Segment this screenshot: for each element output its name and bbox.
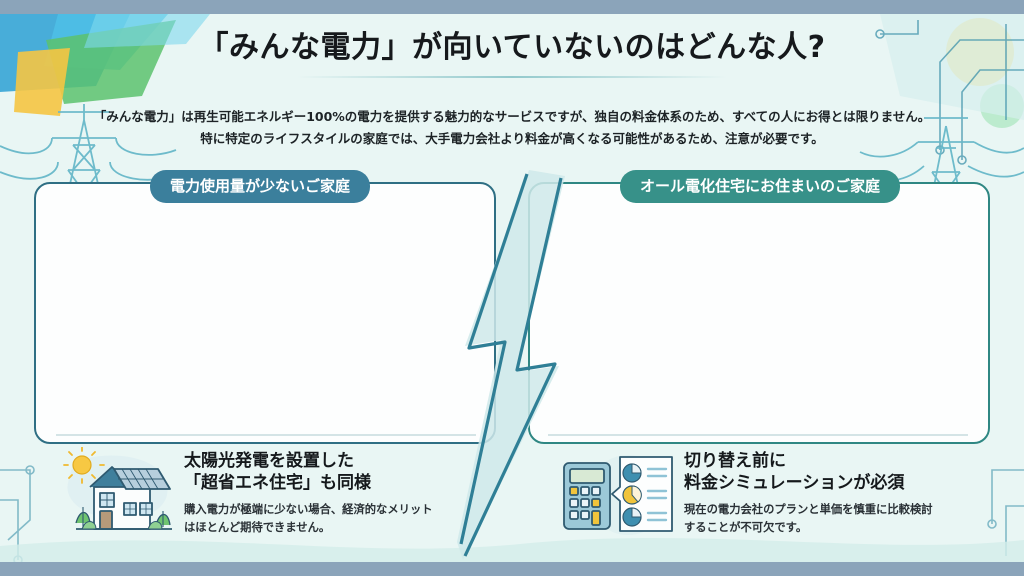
pie-chart-3: [623, 508, 641, 526]
section-card-low-usage: [34, 182, 496, 444]
footer-text: 切り替え前に 料金シミュレーションが必須 現在の電力会社のプランと単価を慎重に比…: [684, 446, 933, 536]
pie-chart-1: [623, 464, 641, 482]
footer-text: 太陽光発電を設置した 「超省エネ住宅」も同様 購入電力が極端に少ない場合、経済的…: [184, 446, 433, 536]
section-divider-left: [56, 434, 476, 436]
title-divider: [297, 76, 727, 78]
footer-note-simulation: 切り替え前に 料金シミュレーションが必須 現在の電力会社のプランと単価を慎重に比…: [552, 446, 984, 542]
footer-heading: 切り替え前に 料金シミュレーションが必須: [684, 450, 933, 494]
footer-note-solar: 太陽光発電を設置した 「超省エネ住宅」も同様 購入電力が極端に少ない場合、経済的…: [52, 446, 484, 542]
section-badge-all-electric: オール電化住宅にお住まいのご家庭: [620, 170, 900, 203]
intro-line-1: 「みんな電力」は再生可能エネルギー100%の電力を提供する魅力的なサービスですが…: [62, 106, 962, 128]
bottom-bar: [0, 562, 1024, 576]
footer-body: 現在の電力会社のプランと単価を慎重に比較検討 することが不可欠です。: [684, 501, 933, 536]
calculator-report-icon: [552, 446, 684, 542]
section-badge-low-usage: 電力使用量が少ないご家庭: [150, 170, 370, 203]
top-bar: [0, 0, 1024, 14]
infographic-canvas: 「みんな電力」が向いていないのはどんな人? 「みんな電力」は再生可能エネルギー1…: [0, 0, 1024, 576]
pie-chart-2: [623, 486, 641, 504]
intro-line-2: 特に特定のライフスタイルの家庭では、大手電力会社より料金が高くなる可能性があるた…: [62, 128, 962, 150]
section-divider-right: [548, 434, 968, 436]
solar-panel-house-icon: [52, 446, 184, 542]
footer-body: 購入電力が極端に少ない場合、経済的なメリット はほとんど期待できません。: [184, 501, 433, 536]
intro-paragraph: 「みんな電力」は再生可能エネルギー100%の電力を提供する魅力的なサービスですが…: [62, 106, 962, 149]
page-title: 「みんな電力」が向いていないのはどんな人?: [0, 22, 1024, 66]
section-card-all-electric: [528, 182, 990, 444]
footer-heading: 太陽光発電を設置した 「超省エネ住宅」も同様: [184, 450, 433, 494]
lightning-bolt-divider: [455, 170, 571, 570]
